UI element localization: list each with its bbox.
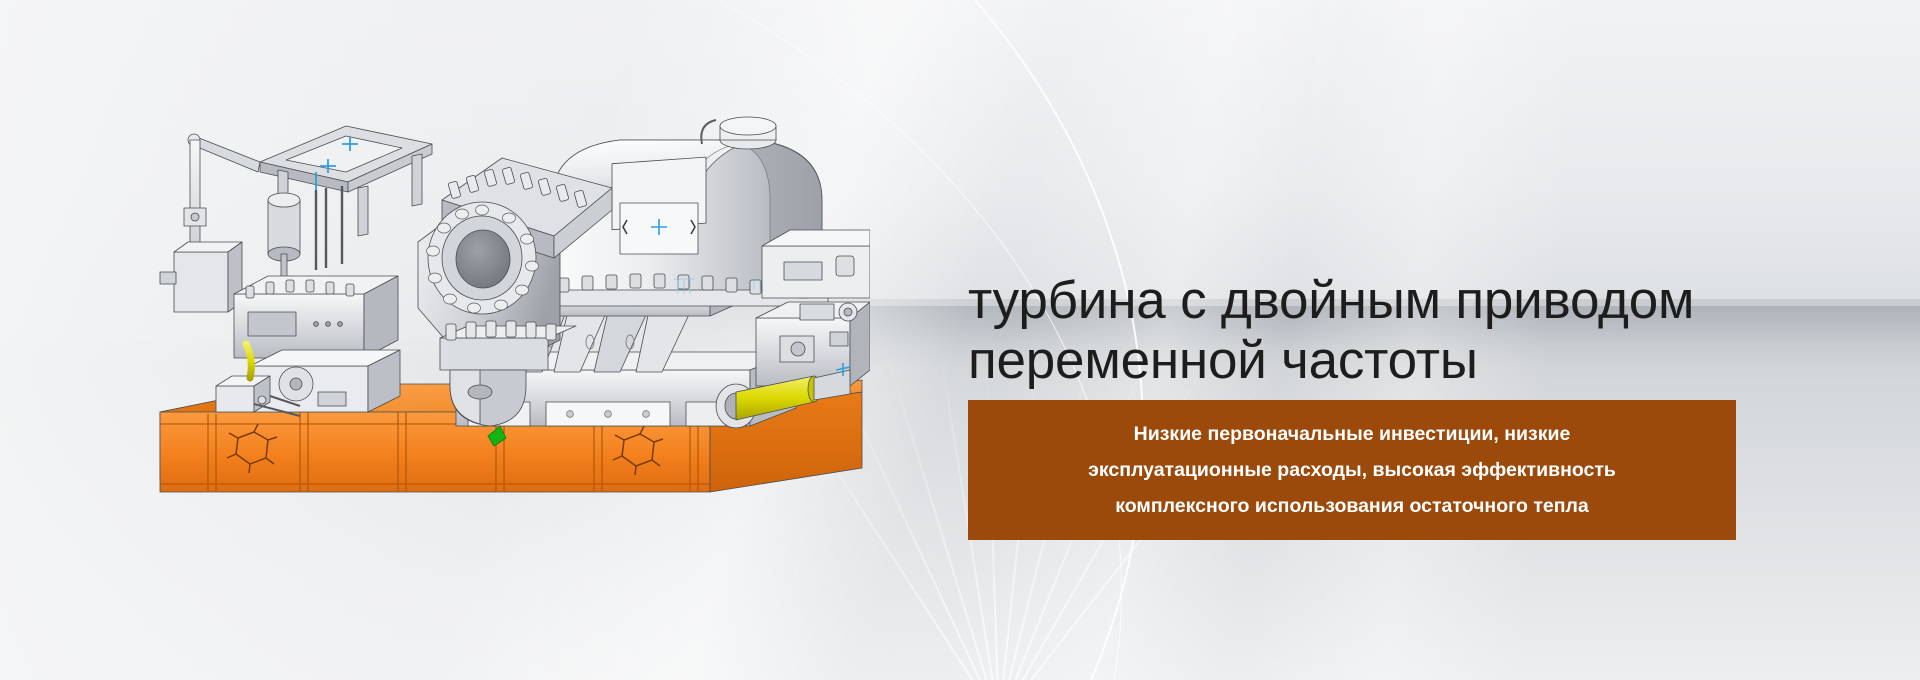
caption-line-3: комплексного использования остаточного т… — [1115, 488, 1588, 524]
product-image-turbine — [150, 40, 870, 560]
hero-banner: турбина с двойным приводом переменной ча… — [0, 0, 1920, 680]
bearing-pedestal — [216, 276, 400, 416]
caption-line-2: эксплуатационные расходы, высокая эффект… — [1088, 452, 1616, 488]
caption-line-1: Низкие первоначальные инвестиции, низкие — [1134, 416, 1571, 452]
inspection-hatch — [612, 157, 706, 254]
page-title: турбина с двойным приводом переменной ча… — [968, 271, 1758, 392]
text-column: турбина с двойным приводом переменной ча… — [968, 0, 1748, 680]
feature-caption-box: Низкие первоначальные инвестиции, низкие… — [968, 400, 1736, 540]
